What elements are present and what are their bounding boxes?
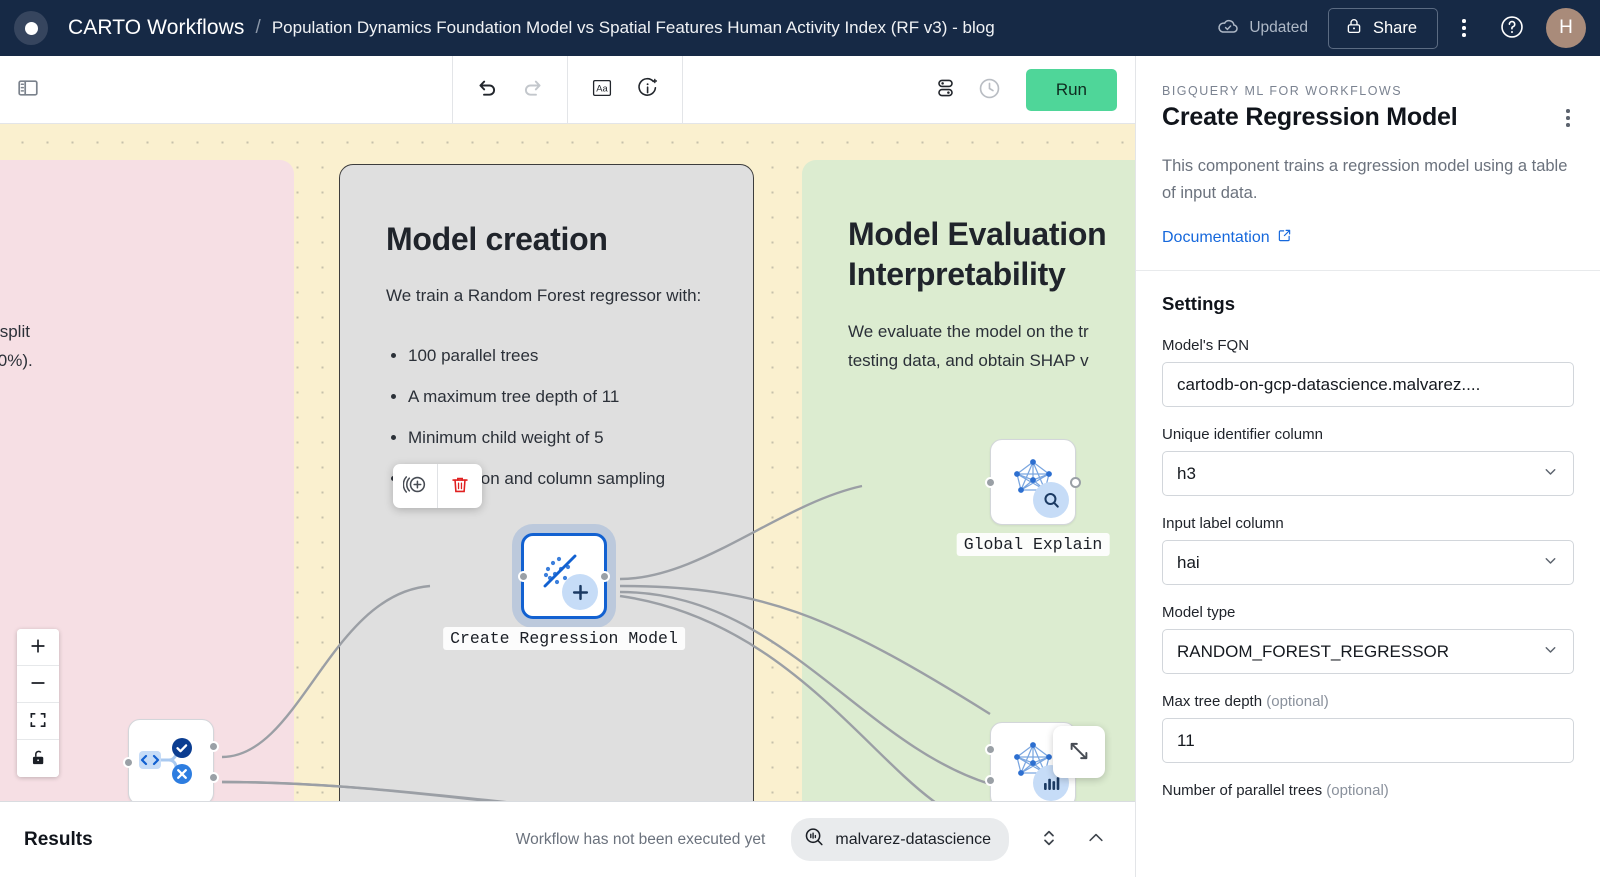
- node-context-toolbar[interactable]: [393, 464, 482, 508]
- group-body-line1: We evaluate the model on the tr: [848, 317, 1135, 346]
- trash-icon: [449, 474, 471, 499]
- field-label: Model's FQN: [1162, 337, 1574, 354]
- group-title-line2: it: [0, 254, 248, 294]
- workflow-title[interactable]: Population Dynamics Foundation Model vs …: [272, 18, 995, 38]
- svg-text:Aa: Aa: [596, 83, 608, 94]
- node-input-port[interactable]: [985, 477, 996, 488]
- node-input-port[interactable]: [123, 757, 134, 768]
- undo-icon: [475, 76, 499, 103]
- zoom-in-button[interactable]: [17, 629, 59, 666]
- share-button[interactable]: Share: [1328, 8, 1438, 49]
- field-input-label-column: Input label column hai: [1162, 515, 1574, 585]
- top-bar-actions: Updated Share: [1216, 6, 1586, 50]
- execution-status: Workflow has not been executed yet: [516, 831, 766, 849]
- panel-left-icon: [16, 76, 40, 103]
- resize-results-button[interactable]: [1035, 822, 1063, 857]
- lock-canvas-button[interactable]: [17, 740, 59, 777]
- sidebar-toggle-button[interactable]: [6, 68, 50, 112]
- model-fqn-input[interactable]: cartodb-on-gcp-datascience.malvarez....: [1162, 362, 1574, 407]
- field-model-type: Model type RANDOM_FOREST_REGRESSOR: [1162, 604, 1574, 674]
- more-options-button[interactable]: [1442, 6, 1486, 50]
- documentation-label: Documentation: [1162, 229, 1270, 247]
- brand-name[interactable]: CARTO Workflows: [68, 16, 245, 40]
- magnifier-badge-icon: [1033, 482, 1069, 518]
- group-title-line1: Model Evaluation: [848, 214, 1135, 254]
- node-box[interactable]: [521, 533, 607, 619]
- carto-logo[interactable]: [14, 11, 48, 45]
- create-regression-model-node[interactable]: Create Regression Model: [521, 533, 607, 619]
- field-label: Number of parallel trees: [1162, 782, 1322, 799]
- field-model-fqn: Model's FQN cartodb-on-gcp-datascience.m…: [1162, 337, 1574, 407]
- node-box[interactable]: [128, 719, 214, 801]
- code-branch-icon: [137, 731, 205, 794]
- node-settings-panel: BIGQUERY ML FOR WORKFLOWS Create Regress…: [1135, 56, 1600, 877]
- editor-toolbar: Aa: [0, 56, 1135, 124]
- list-item: Minimum child weight of 5: [408, 423, 707, 452]
- panel-settings: Settings Model's FQN cartodb-on-gcp-data…: [1136, 271, 1600, 799]
- add-connected-node-button[interactable]: [393, 464, 437, 508]
- results-label: Results: [24, 829, 93, 851]
- breadcrumb-separator: /: [256, 17, 261, 39]
- node-label: Global Explain: [957, 533, 1110, 556]
- field-number-of-parallel-trees: Number of parallel trees (optional): [1162, 782, 1574, 799]
- redo-icon: [521, 76, 545, 103]
- field-label: Model type: [1162, 604, 1574, 621]
- panel-menu-button[interactable]: [1562, 103, 1574, 133]
- expand-arrows-icon: [1066, 738, 1092, 767]
- panel-title: Create Regression Model: [1162, 103, 1458, 132]
- kebab-icon: [1462, 19, 1466, 37]
- group-body-line2: ain (70%) and test (30%).: [0, 346, 248, 375]
- chevron-up-icon: [1085, 827, 1107, 852]
- fit-view-button[interactable]: [17, 703, 59, 740]
- panel-eyebrow: BIGQUERY ML FOR WORKFLOWS: [1162, 84, 1574, 98]
- node-output-port[interactable]: [1070, 477, 1081, 488]
- max-tree-depth-input[interactable]: 11: [1162, 718, 1574, 763]
- global-explain-node[interactable]: Global Explain: [990, 439, 1076, 525]
- node-input-port-bottom[interactable]: [985, 775, 996, 786]
- group-title-line1: ction and: [0, 214, 248, 254]
- node-output-port[interactable]: [599, 571, 610, 582]
- expand-node-button[interactable]: [1053, 726, 1105, 778]
- annotation-group: Aa: [568, 68, 682, 112]
- chevron-down-icon: [1542, 552, 1559, 574]
- info-annotation-button[interactable]: [626, 68, 670, 112]
- chevron-updown-icon: [1039, 826, 1059, 853]
- lock-icon: [1345, 17, 1363, 40]
- group-title-line2: Interpretability: [848, 254, 1135, 294]
- documentation-link[interactable]: Documentation: [1162, 228, 1292, 248]
- plus-badge-icon: [562, 574, 598, 610]
- help-button[interactable]: [1490, 6, 1534, 50]
- add-node-icon: [403, 472, 428, 500]
- field-value: hai: [1177, 553, 1542, 573]
- field-value: cartodb-on-gcp-datascience.malvarez....: [1177, 375, 1559, 395]
- run-button[interactable]: Run: [1026, 69, 1117, 111]
- canvas-zoom-controls[interactable]: [17, 629, 59, 777]
- field-label: Unique identifier column: [1162, 426, 1574, 443]
- collapse-results-button[interactable]: [1081, 823, 1111, 856]
- results-panel-controls: [1035, 822, 1111, 857]
- group-body-line2: testing data, and obtain SHAP v: [848, 346, 1135, 375]
- fit-view-icon: [28, 710, 48, 733]
- field-max-tree-depth: Max tree depth (optional) 11: [1162, 693, 1574, 763]
- model-evaluation-group[interactable]: Model Evaluation Interpretability We eva…: [802, 160, 1135, 801]
- panel-header: BIGQUERY ML FOR WORKFLOWS Create Regress…: [1136, 56, 1600, 271]
- list-item: 100 parallel trees: [408, 341, 707, 370]
- share-label: Share: [1373, 19, 1417, 38]
- field-value: 11: [1177, 731, 1559, 751]
- node-box[interactable]: [990, 439, 1076, 525]
- toolbar-divider-3: [682, 56, 683, 124]
- sidebar-toggle-wrap: [0, 56, 56, 124]
- node-input-port[interactable]: [518, 571, 529, 582]
- history-button[interactable]: [968, 68, 1012, 112]
- top-bar: CARTO Workflows / Population Dynamics Fo…: [0, 0, 1600, 56]
- field-optional-tag: (optional): [1262, 693, 1329, 710]
- field-label: Input label column: [1162, 515, 1574, 532]
- delete-node-button[interactable]: [438, 464, 482, 508]
- field-optional-tag: (optional): [1322, 782, 1389, 799]
- history-group: [453, 68, 567, 112]
- text-annotation-button[interactable]: Aa: [580, 68, 624, 112]
- cloud-check-icon: [1216, 14, 1240, 43]
- node-label: Create Regression Model: [443, 627, 685, 650]
- redo-button[interactable]: [511, 68, 555, 112]
- settings-title: Settings: [1162, 293, 1574, 315]
- results-bar: Results Workflow has not been executed y…: [0, 801, 1135, 877]
- field-unique-identifier-column: Unique identifier column h3: [1162, 426, 1574, 496]
- unique-identifier-column-select[interactable]: h3: [1162, 451, 1574, 496]
- connection-pill[interactable]: malvarez-datascience: [791, 818, 1009, 861]
- field-value: RANDOM_FOREST_REGRESSOR: [1177, 642, 1542, 662]
- text-aa-icon: Aa: [590, 76, 614, 103]
- node-output-port-bottom[interactable]: [208, 772, 219, 783]
- zoom-out-button[interactable]: [17, 666, 59, 703]
- split-node[interactable]: [128, 719, 214, 801]
- group-title: Model creation: [386, 219, 707, 259]
- group-body-line1: gs and HAI and later split: [0, 317, 248, 346]
- workflow-canvas[interactable]: ction and it gs and HAI and later split …: [0, 124, 1135, 801]
- input-label-column-select[interactable]: hai: [1162, 540, 1574, 585]
- external-link-icon: [1277, 228, 1292, 248]
- group-body-text: We train a Random Forest regressor with:: [386, 281, 707, 310]
- minus-icon: [28, 673, 48, 696]
- info-sparkle-icon: [636, 76, 660, 103]
- node-input-port-top[interactable]: [985, 744, 996, 755]
- updated-label: Updated: [1249, 19, 1308, 37]
- field-label: Max tree depth: [1162, 693, 1262, 710]
- clock-icon: [977, 76, 1002, 104]
- chevron-down-icon: [1542, 641, 1559, 663]
- list-item: A maximum tree depth of 11: [408, 382, 707, 411]
- chevron-down-icon: [1542, 463, 1559, 485]
- connection-name: malvarez-datascience: [835, 831, 991, 849]
- bigquery-icon: [803, 826, 825, 853]
- model-type-select[interactable]: RANDOM_FOREST_REGRESSOR: [1162, 629, 1574, 674]
- layers-icon: [934, 76, 958, 103]
- help-circle-icon: [1499, 14, 1525, 43]
- user-avatar[interactable]: H: [1546, 8, 1586, 48]
- updated-status: Updated: [1216, 14, 1308, 43]
- panel-description: This component trains a regression model…: [1162, 153, 1574, 206]
- field-value: h3: [1177, 464, 1542, 484]
- plus-icon: [28, 636, 48, 659]
- layers-button[interactable]: [924, 68, 968, 112]
- undo-button[interactable]: [465, 68, 509, 112]
- unlock-icon: [29, 748, 48, 770]
